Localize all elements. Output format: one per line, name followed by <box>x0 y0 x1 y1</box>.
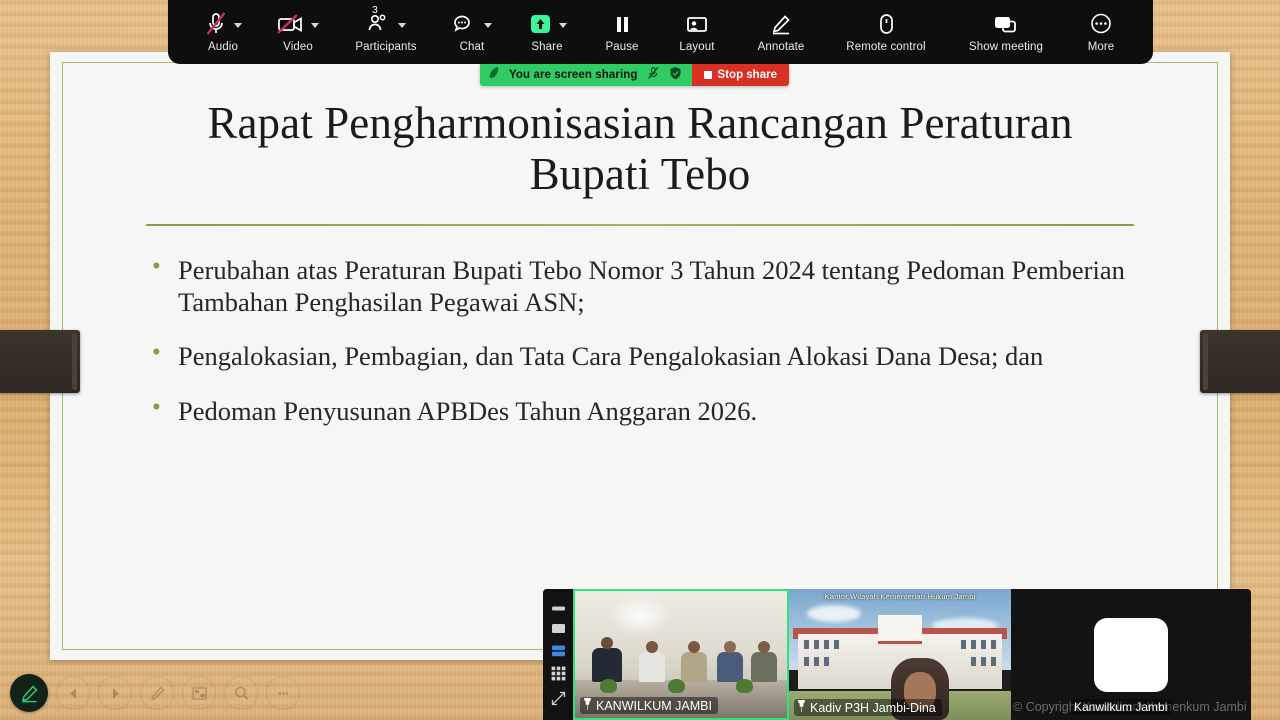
zoom-meeting-toolbar: Audio Video 3 <box>168 0 1153 64</box>
shield-check-icon[interactable] <box>669 66 682 85</box>
toolbar-audio-button[interactable]: Audio <box>186 0 260 53</box>
participant-name: Kanwilkum Jambi <box>1074 700 1167 714</box>
stop-square-icon <box>704 71 712 79</box>
toolbar-pause-button[interactable]: Pause <box>586 0 658 53</box>
pencil-edit-icon[interactable] <box>10 674 48 712</box>
split-view-icon[interactable] <box>551 644 566 662</box>
toolbar-annotate-button[interactable]: Annotate <box>736 0 826 53</box>
mouse-icon <box>875 12 897 36</box>
toolbar-video-button[interactable]: Video <box>260 0 336 53</box>
pin-icon <box>583 698 592 713</box>
toolbar-more-label: More <box>1088 41 1115 53</box>
share-screen-icon <box>527 12 553 36</box>
camera-muted-icon <box>277 13 305 35</box>
microphone-muted-icon <box>204 11 228 37</box>
slide-bullet-list: Perubahan atas Peraturan Bupati Tebo Nom… <box>146 254 1146 427</box>
sharing-indicator: You are screen sharing <box>480 64 692 86</box>
toolbar-chat-button[interactable]: Chat <box>436 0 508 53</box>
sharing-status-text: You are screen sharing <box>509 69 638 81</box>
toolbar-layout-button[interactable]: Layout <box>658 0 736 53</box>
whiteboard-icon[interactable] <box>182 676 216 710</box>
participant-name-badge: Kanwilkum Jambi <box>1071 699 1173 715</box>
layout-icon <box>684 13 710 35</box>
magnifier-icon[interactable] <box>224 676 258 710</box>
grid-view-icon[interactable] <box>551 666 566 686</box>
window-tab-handle-right[interactable] <box>1200 330 1280 393</box>
virtual-background-caption: Kantor Wilayah Kementerian Hukum Jambi <box>789 592 1011 601</box>
chevron-down-icon[interactable] <box>311 23 319 28</box>
participant-name: Kadiv P3H Jambi-Dina <box>810 701 936 715</box>
mic-muted-small-icon[interactable] <box>647 66 660 85</box>
screen-sharing-status-bar: You are screen sharing Stop share <box>480 64 789 86</box>
participant-name: KANWILKUM JAMBI <box>596 699 712 713</box>
participant-name-badge: Kadiv P3H Jambi-Dina <box>794 699 942 716</box>
expand-icon[interactable] <box>551 691 566 711</box>
toolbar-audio-label: Audio <box>208 41 238 53</box>
toolbar-remote-control-label: Remote control <box>846 41 925 53</box>
chevron-down-icon[interactable] <box>398 23 406 28</box>
toolbar-chat-label: Chat <box>460 41 485 53</box>
toolbar-video-label: Video <box>283 41 313 53</box>
minimize-bar-icon[interactable] <box>551 599 566 617</box>
list-item: Pengalokasian, Pembagian, dan Tata Cara … <box>146 340 1146 372</box>
next-play-icon[interactable] <box>98 676 132 710</box>
toolbar-participants-button[interactable]: 3 Participants <box>336 0 436 53</box>
video-tile[interactable]: © Copyright Kanwilkum Kemenkum Jambi Kan… <box>1011 589 1251 720</box>
list-item: Perubahan atas Peraturan Bupati Tebo Nom… <box>146 254 1146 319</box>
title-divider <box>146 224 1134 226</box>
prev-arrow-icon[interactable] <box>56 676 90 710</box>
chevron-down-icon[interactable] <box>559 23 567 28</box>
pencil-annotate-icon <box>769 13 793 35</box>
participants-count: 3 <box>372 4 378 16</box>
pause-icon <box>610 13 634 35</box>
toolbar-annotate-label: Annotate <box>758 41 805 53</box>
toolbar-more-button[interactable]: More <box>1066 0 1136 53</box>
pin-icon <box>797 700 806 715</box>
participant-name-badge: KANWILKUM JAMBI <box>580 697 718 714</box>
show-meeting-icon <box>992 13 1020 35</box>
chat-bubble-icon <box>452 13 478 35</box>
stop-share-label: Stop share <box>718 69 777 81</box>
more-ellipsis-icon <box>1088 12 1114 36</box>
toolbar-share-label: Share <box>531 41 562 53</box>
sharing-leaf-icon <box>488 66 500 85</box>
participants-icon <box>366 13 392 35</box>
window-tab-handle-left[interactable] <box>0 330 80 393</box>
chevron-down-icon[interactable] <box>484 23 492 28</box>
toolbar-show-meeting-label: Show meeting <box>969 41 1043 53</box>
toolbar-participants-label: Participants <box>355 41 416 53</box>
toolbar-share-button[interactable]: Share <box>508 0 586 53</box>
blank-video-placeholder <box>1094 618 1168 692</box>
annotation-quick-toolbar <box>10 674 300 712</box>
chevron-down-icon[interactable] <box>234 23 242 28</box>
list-item: Pedoman Penyusunan APBDes Tahun Anggaran… <box>146 395 1146 427</box>
shared-slide: Rapat Pengharmonisasian Rancangan Peratu… <box>50 52 1230 660</box>
slide-title: Rapat Pengharmonisasian Rancangan Peratu… <box>98 98 1182 200</box>
toolbar-layout-label: Layout <box>679 41 714 53</box>
toolbar-pause-label: Pause <box>605 41 638 53</box>
toolbar-show-meeting-button[interactable]: Show meeting <box>946 0 1066 53</box>
filmstrip-layout-options <box>543 589 573 720</box>
more-ellipsis-icon[interactable] <box>266 676 300 710</box>
single-view-icon[interactable] <box>551 621 566 639</box>
toolbar-remote-control-button[interactable]: Remote control <box>826 0 946 53</box>
participant-filmstrip: KANWILKUM JAMBI Kantor Wilayah Kementeri… <box>543 589 1251 720</box>
video-tile[interactable]: KANWILKUM JAMBI <box>573 589 789 720</box>
brush-icon[interactable] <box>140 676 174 710</box>
video-tile[interactable]: Kantor Wilayah Kementerian Hukum Jambi K… <box>789 589 1011 720</box>
stop-share-button[interactable]: Stop share <box>692 64 789 86</box>
slide-content: Rapat Pengharmonisasian Rancangan Peratu… <box>50 52 1230 660</box>
